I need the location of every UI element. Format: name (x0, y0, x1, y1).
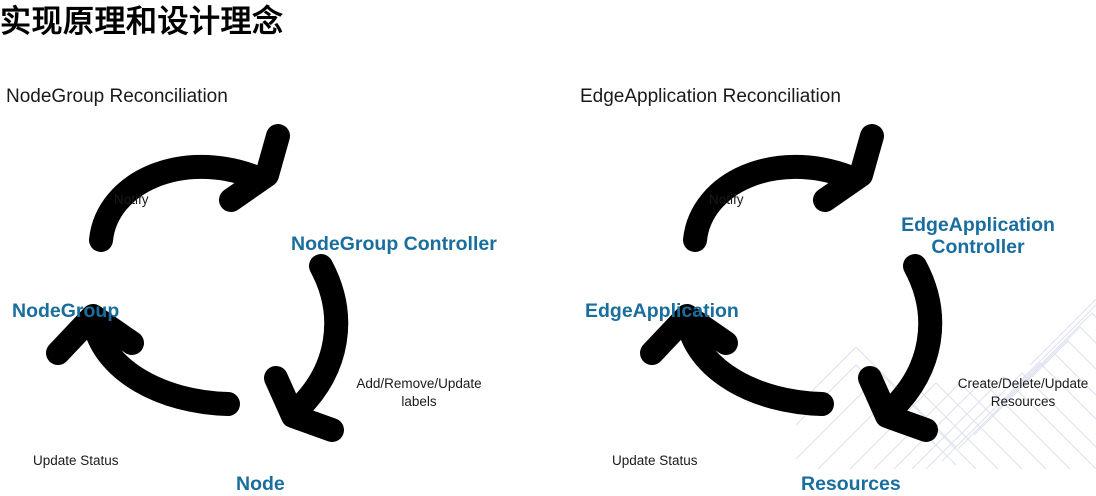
arrow-update-status (58, 316, 228, 404)
panel-heading-edgeapplication: EdgeApplication Reconciliation (580, 86, 841, 108)
edge-label-update-status: Update Status (33, 452, 119, 470)
panel-heading-nodegroup: NodeGroup Reconciliation (6, 86, 228, 108)
arrow-notify (101, 136, 278, 240)
arrow-create-delete-update (870, 266, 930, 430)
diagram-nodegroup-cycle: NodeGroup Controller NodeGroup Node Noti… (0, 120, 548, 469)
slide-title: 实现原理和设计理念 (0, 0, 284, 41)
edge-label-notify: Notify (114, 191, 149, 209)
edge-label-create-delete-update: Create/Delete/Update Resources (950, 375, 1096, 411)
node-label-edgeapplication: EdgeApplication (585, 301, 739, 323)
node-label-nodegroup: NodeGroup (12, 301, 119, 323)
edge-label-notify: Notify (709, 191, 744, 209)
node-label-node: Node (236, 474, 285, 496)
arrow-update-status (652, 316, 822, 404)
node-label-nodegroup-controller: NodeGroup Controller (291, 234, 497, 256)
edge-label-add-remove-update: Add/Remove/Update labels (348, 375, 490, 411)
node-label-resources: Resources (801, 474, 901, 496)
edge-label-update-status: Update Status (612, 452, 698, 470)
node-label-edgeapplication-controller: EdgeApplication Controller (898, 215, 1058, 259)
panel-nodegroup-reconciliation: NodeGroup Reconciliation NodeGroup Contr… (0, 80, 548, 469)
diagram-edgeapplication-cycle: EdgeApplication Controller EdgeApplicati… (548, 120, 1096, 469)
arrow-notify (695, 136, 872, 240)
arrow-add-remove-update (276, 266, 336, 430)
panel-edgeapplication-reconciliation: EdgeApplication Reconciliation EdgeAppli… (548, 80, 1096, 469)
